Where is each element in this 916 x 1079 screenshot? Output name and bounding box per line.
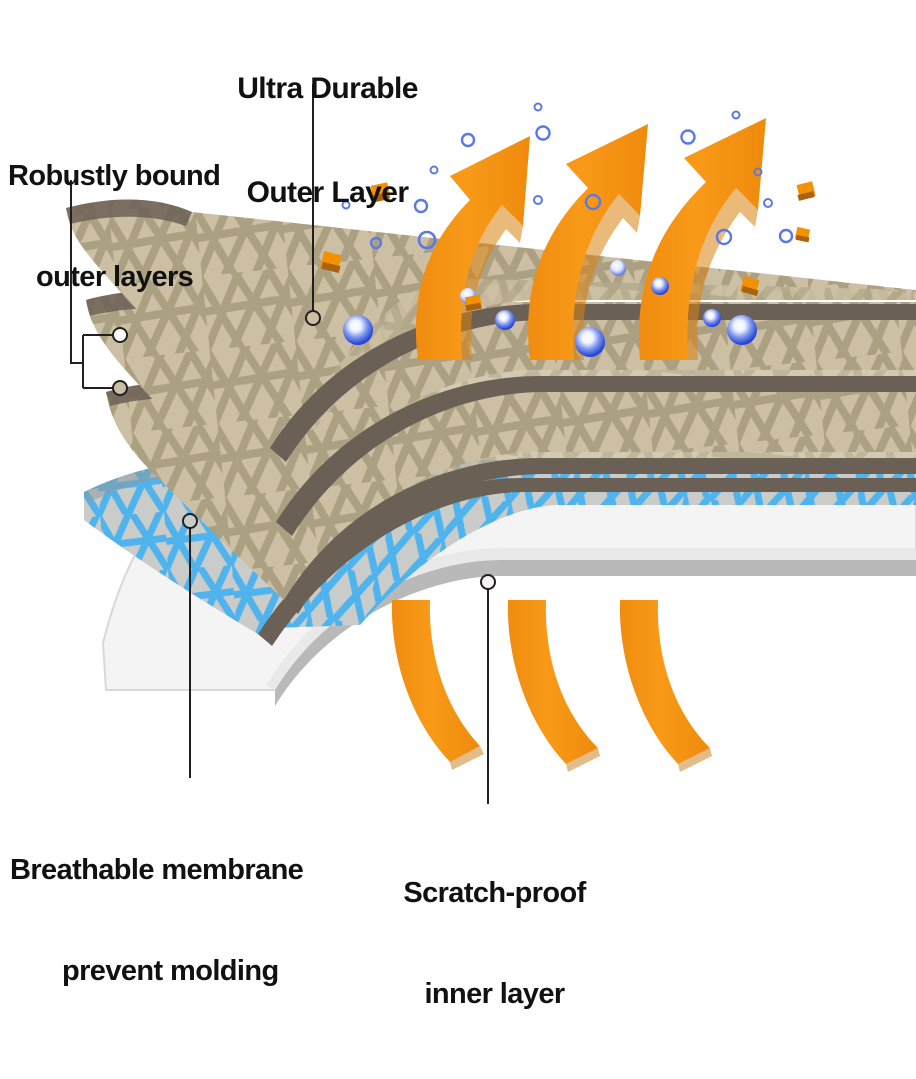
diagram-canvas: Ultra Durable Outer Layer Robustly bound… <box>0 0 916 902</box>
label-line: Breathable membrane <box>10 854 370 888</box>
bubble-outline <box>535 104 542 111</box>
label-breathable-membrane-prevent-molding: Breathable membrane prevent molding <box>10 787 370 1056</box>
bubble <box>610 260 626 276</box>
bubble-outline <box>682 131 695 144</box>
leader-scratch-proof <box>481 575 495 804</box>
label-line: outer layers <box>8 261 308 295</box>
label-line: inner layer <box>372 978 617 1012</box>
bubble <box>727 315 757 345</box>
label-scratch-proof-inner-layer: Scratch-proof inner layer <box>372 810 617 1079</box>
bubble-outline <box>780 230 792 242</box>
down-arrow-1 <box>392 600 480 762</box>
bubble-outline <box>462 134 474 146</box>
dirt-cube <box>465 295 482 311</box>
label-line: prevent molding <box>10 955 370 989</box>
label-robustly-bound-outer-layers: Robustly bound outer layers <box>8 93 308 362</box>
bubble <box>495 310 515 330</box>
downward-abrasion-arrows <box>392 600 712 772</box>
bubble-outline <box>764 199 772 207</box>
label-line: Robustly bound <box>8 160 308 194</box>
label-line: Scratch-proof <box>372 877 617 911</box>
dirt-cube <box>797 181 816 201</box>
bubble <box>575 327 605 357</box>
dirt-cube <box>795 227 810 243</box>
down-arrow-2 <box>508 600 598 764</box>
bubble-outline <box>534 196 542 204</box>
bubble <box>703 309 721 327</box>
down-arrow-3 <box>620 600 710 764</box>
bubble <box>651 277 669 295</box>
bubble <box>343 315 373 345</box>
bubble-outline <box>733 112 740 119</box>
bubble-outline <box>537 127 550 140</box>
